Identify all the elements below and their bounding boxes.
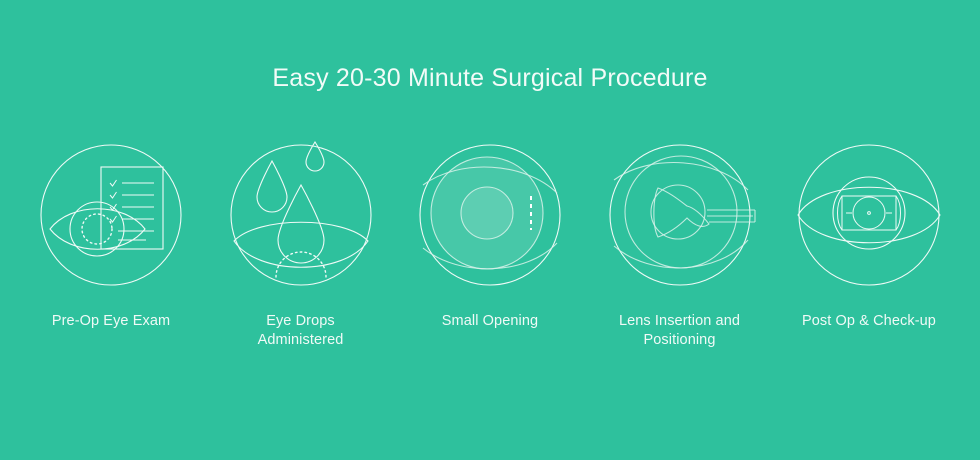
- steps-row: Pre-Op Eye Exam Eye Drops: [0, 130, 980, 360]
- eye-checklist-icon: [26, 130, 196, 300]
- eye-implanted-lens-icon: [784, 130, 954, 300]
- step-label: Pre-Op Eye Exam: [52, 312, 170, 331]
- step-lens-insertion-positioning[interactable]: Lens Insertion and Positioning: [591, 130, 769, 350]
- step-label: Post Op & Check-up: [802, 312, 936, 331]
- step-label: Small Opening: [442, 312, 538, 331]
- eye-drops-icon: [216, 130, 386, 300]
- step-label: Lens Insertion and Positioning: [619, 312, 740, 350]
- surgical-procedure-infographic: Easy 20-30 Minute Surgical Procedure: [0, 0, 980, 460]
- iris-incision-icon: [405, 130, 575, 300]
- page-title: Easy 20-30 Minute Surgical Procedure: [0, 62, 980, 94]
- step-pre-op-eye-exam[interactable]: Pre-Op Eye Exam: [22, 130, 200, 331]
- step-label: Eye Drops Administered: [258, 312, 344, 350]
- step-eye-drops-administered[interactable]: Eye Drops Administered: [212, 130, 390, 350]
- step-small-opening[interactable]: Small Opening: [401, 130, 579, 331]
- step-post-op-check-up[interactable]: Post Op & Check-up: [780, 130, 958, 331]
- lens-injector-icon: [595, 130, 765, 300]
